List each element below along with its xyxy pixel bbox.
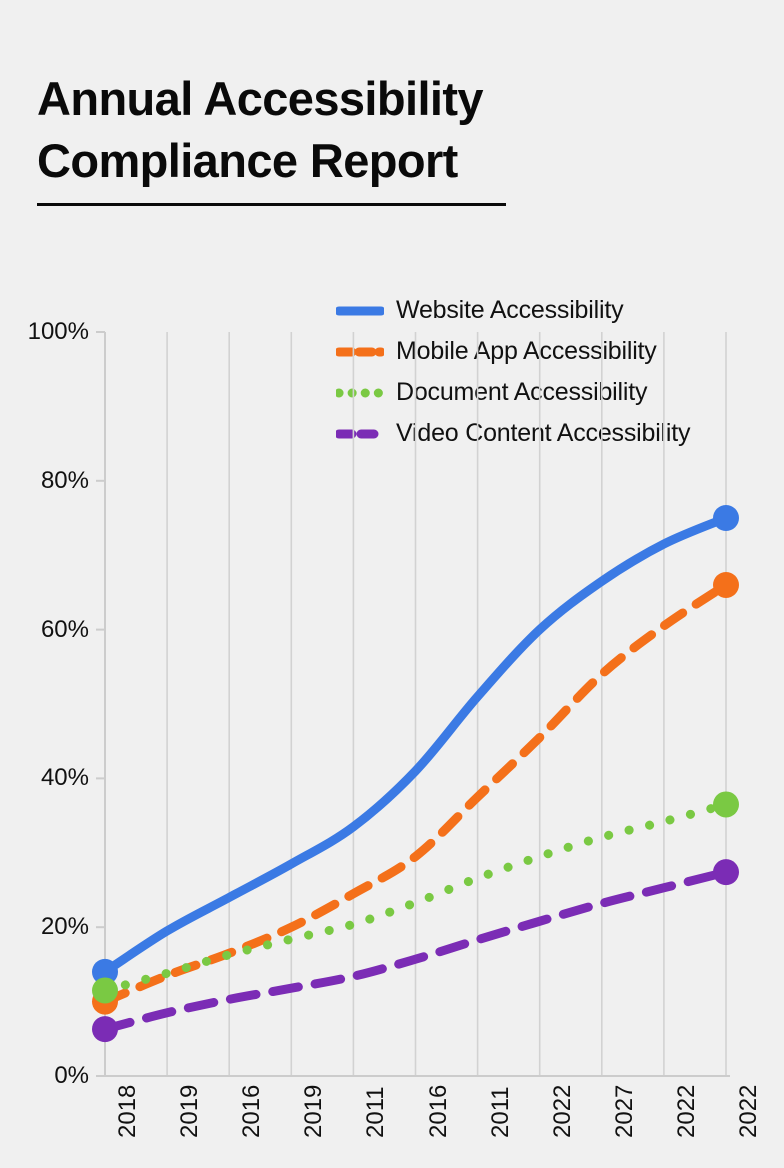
y-axis-tick-label: 60% — [41, 616, 89, 644]
x-axis-tick-label: 2019 — [300, 1085, 328, 1138]
x-axis-tick-label: 2018 — [114, 1085, 142, 1138]
x-axis-tick-label: 2022 — [673, 1085, 701, 1138]
chart-plot-area: 0%20%40%60%80%100%2018201920162019201120… — [0, 0, 784, 1168]
series-endpoint-marker — [713, 791, 739, 817]
x-axis-tick-label: 2016 — [238, 1085, 266, 1138]
x-axis-tick-label: 2016 — [425, 1085, 453, 1138]
x-axis-tick-label: 2022 — [735, 1085, 763, 1138]
x-axis-tick-label: 2027 — [611, 1085, 639, 1138]
x-axis-tick-label: 2019 — [176, 1085, 204, 1138]
y-axis-tick-label: 40% — [41, 764, 89, 792]
y-axis-tick-label: 0% — [54, 1062, 89, 1090]
x-axis-tick-label: 2011 — [362, 1086, 390, 1138]
y-axis-tick-label: 80% — [41, 467, 89, 495]
x-axis-tick-label: 2011 — [487, 1086, 515, 1138]
series-endpoint-marker — [713, 859, 739, 885]
series-endpoint-marker — [713, 505, 739, 531]
x-axis-tick-label: 2022 — [549, 1085, 577, 1138]
y-axis-tick-label: 20% — [41, 913, 89, 941]
y-axis-tick-label: 100% — [28, 318, 89, 346]
chart-canvas — [0, 0, 784, 1168]
series-endpoint-marker — [92, 1016, 118, 1042]
series-endpoint-marker — [92, 977, 118, 1003]
chart-figure: Annual Accessibility Compliance Report W… — [0, 0, 784, 1168]
series-endpoint-marker — [713, 572, 739, 598]
